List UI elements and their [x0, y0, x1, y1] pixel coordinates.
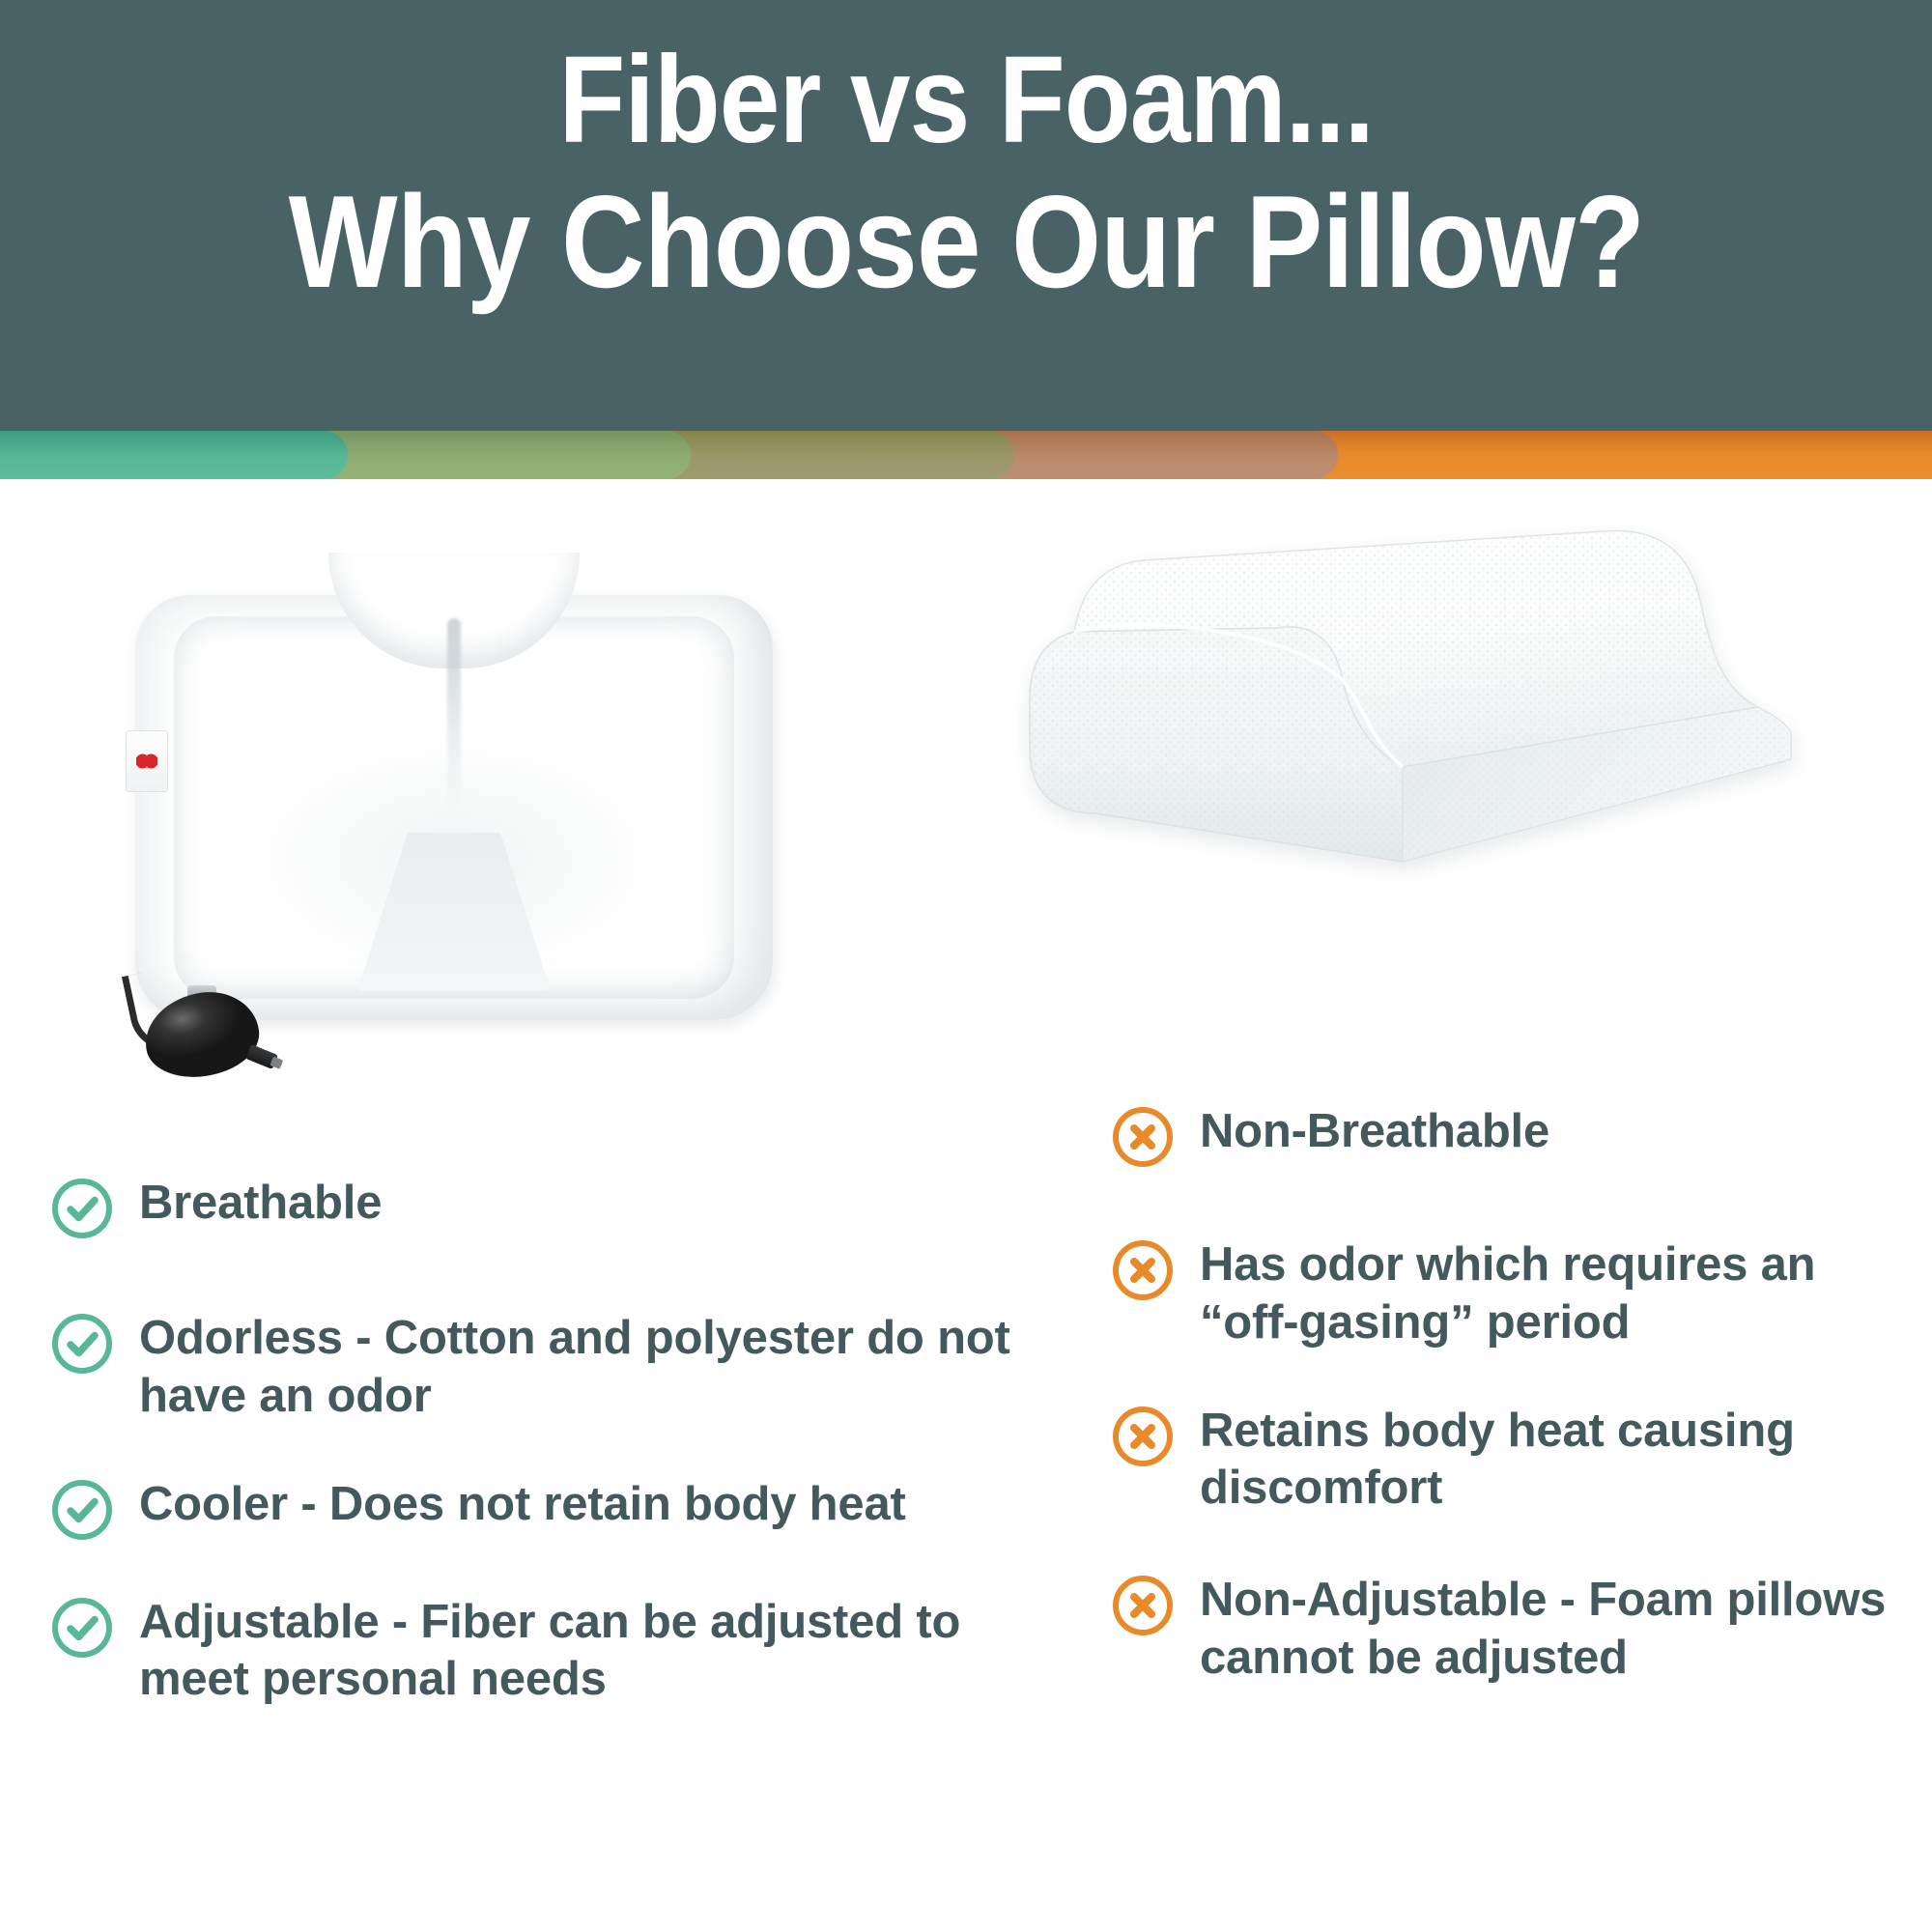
feature-item: Cooler - Does not retain body heat	[50, 1476, 1026, 1542]
feature-item: Has odor which requires an “off-gasing” …	[1111, 1236, 1913, 1352]
feature-item: Breathable	[50, 1175, 1026, 1240]
check-circle-icon	[50, 1177, 114, 1240]
check-circle-icon	[50, 1312, 114, 1376]
foam-pillow-shape	[1024, 518, 1797, 885]
foam-pillow-image	[1024, 518, 1797, 885]
feature-label: Has odor which requires an “off-gasing” …	[1200, 1236, 1913, 1352]
feature-item: Non-Adjustable - Foam pillows cannot be …	[1111, 1572, 1913, 1688]
fiber-pillow-image	[116, 595, 792, 1039]
gradient-divider-bar	[0, 431, 1932, 479]
feature-label: Odorless - Cotton and polyester do not h…	[139, 1310, 1026, 1426]
foam-drawbacks-column: Non-Breathable Has odor which requires a…	[1111, 1140, 1913, 1688]
page-title-line-1: Fiber vs Foam...	[558, 39, 1373, 162]
feature-item: Non-Breathable	[1111, 1103, 1913, 1169]
feature-item: Adjustable - Fiber can be adjusted to me…	[50, 1594, 1026, 1710]
comparison-columns: Breathable Odorless - Cotton and polyest…	[0, 1140, 1932, 1932]
check-circle-icon	[50, 1478, 114, 1542]
x-circle-icon	[1111, 1574, 1175, 1637]
x-circle-icon	[1111, 1105, 1175, 1169]
feature-label: Non-Breathable	[1200, 1103, 1549, 1161]
fiber-pillow-center-crease	[447, 618, 461, 811]
brand-logo-icon	[136, 752, 157, 771]
feature-label: Retains body heat causing discomfort	[1200, 1403, 1913, 1519]
feature-item: Odorless - Cotton and polyester do not h…	[50, 1310, 1026, 1426]
fiber-pillow-body	[135, 595, 773, 1020]
feature-item: Retains body heat causing discomfort	[1111, 1403, 1913, 1519]
x-circle-icon	[1111, 1405, 1175, 1468]
brand-tag	[126, 730, 168, 792]
feature-label: Adjustable - Fiber can be adjusted to me…	[139, 1594, 1026, 1710]
inflation-nozzle	[245, 1044, 278, 1069]
fiber-benefits-column: Breathable Odorless - Cotton and polyest…	[50, 1140, 1026, 1709]
x-circle-icon	[1111, 1238, 1175, 1302]
feature-label: Cooler - Does not retain body heat	[139, 1476, 906, 1534]
header-banner: Fiber vs Foam... Why Choose Our Pillow?	[0, 0, 1932, 431]
check-circle-icon	[50, 1596, 114, 1660]
feature-label: Breathable	[139, 1175, 382, 1233]
gradient-segment-orange	[1236, 431, 1932, 479]
page-title-line-2: Why Choose Our Pillow?	[288, 176, 1644, 307]
product-image-row	[0, 479, 1932, 1155]
gradient-segment-green	[0, 431, 348, 479]
feature-label: Non-Adjustable - Foam pillows cannot be …	[1200, 1572, 1913, 1688]
